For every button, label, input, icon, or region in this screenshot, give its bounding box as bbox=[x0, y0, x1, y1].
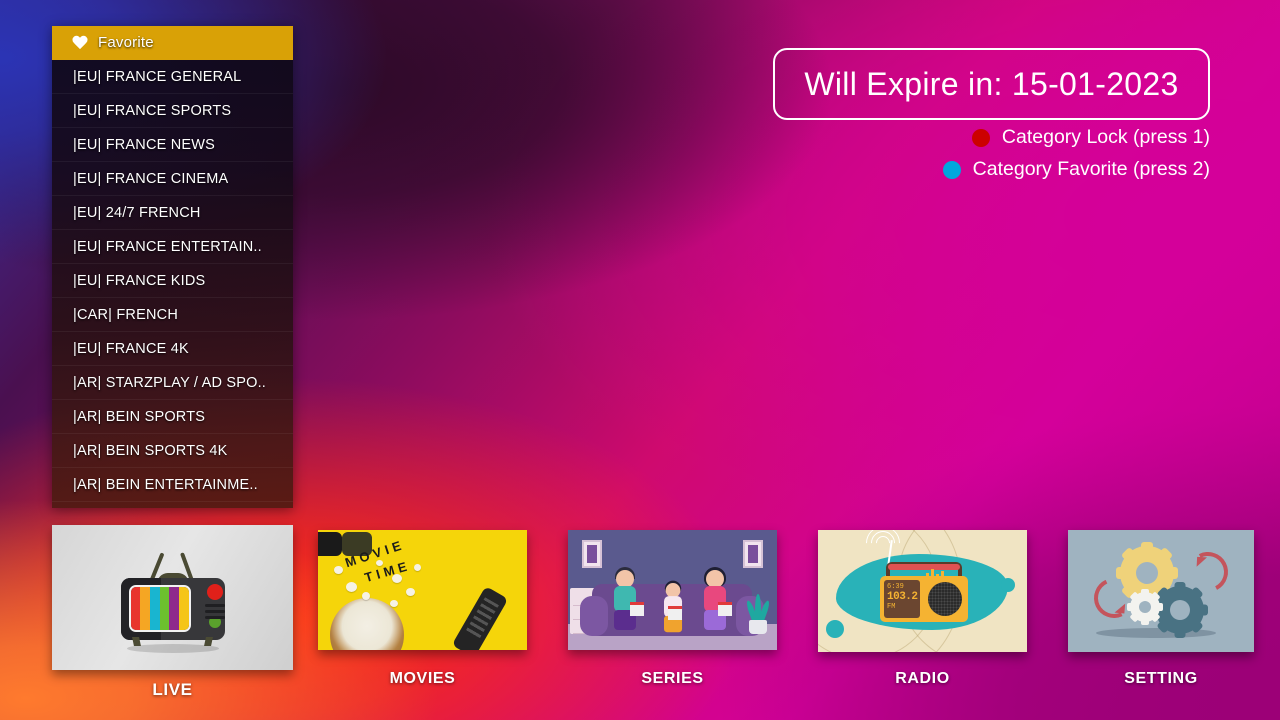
live-artwork bbox=[52, 525, 293, 670]
menu-tile-series[interactable]: SERIES bbox=[568, 530, 777, 650]
menu-tile-label-setting: SETTING bbox=[1068, 670, 1254, 688]
radio-time: 6:39 bbox=[887, 583, 904, 591]
live-thumbnail bbox=[52, 525, 293, 670]
menu-tile-live[interactable]: LIVE bbox=[52, 525, 293, 670]
setting-thumbnail bbox=[1068, 530, 1254, 652]
radio-artwork: 6:39 103.2 FM bbox=[818, 530, 1027, 652]
menu-tile-label-movies: MOVIES bbox=[318, 670, 527, 688]
remote-control-icon bbox=[452, 586, 509, 650]
radio-display: 6:39 103.2 FM bbox=[884, 580, 920, 618]
speaker-icon bbox=[928, 582, 962, 616]
movies-artwork: MOVIE TIME bbox=[318, 530, 527, 650]
plant-icon bbox=[745, 600, 771, 634]
radio-frequency: 103.2 bbox=[887, 591, 920, 603]
menu-tile-label-series: SERIES bbox=[568, 670, 777, 688]
gear-icon-white bbox=[1130, 592, 1160, 622]
menu-tile-movies[interactable]: MOVIE TIME MOVIES bbox=[318, 530, 527, 650]
gear-icon-teal bbox=[1156, 586, 1204, 634]
series-thumbnail bbox=[568, 530, 777, 650]
radio-band: FM bbox=[887, 603, 895, 611]
radio-thumbnail: 6:39 103.2 FM bbox=[818, 530, 1027, 652]
television-icon bbox=[113, 552, 233, 648]
menu-tile-label-radio: RADIO bbox=[818, 670, 1027, 688]
app-root: Favorite|EU| FRANCE GENERAL|EU| FRANCE S… bbox=[0, 0, 1280, 720]
menu-tile-radio[interactable]: 6:39 103.2 FM RADIO bbox=[818, 530, 1027, 652]
menu-tile-setting[interactable]: SETTING bbox=[1068, 530, 1254, 652]
setting-artwork bbox=[1068, 530, 1254, 652]
menu-tile-label-live: LIVE bbox=[52, 680, 293, 700]
movies-thumbnail: MOVIE TIME bbox=[318, 530, 527, 650]
main-menu-tiles: LIVE MOVIE TIME bbox=[0, 0, 1280, 720]
series-artwork bbox=[568, 530, 777, 650]
